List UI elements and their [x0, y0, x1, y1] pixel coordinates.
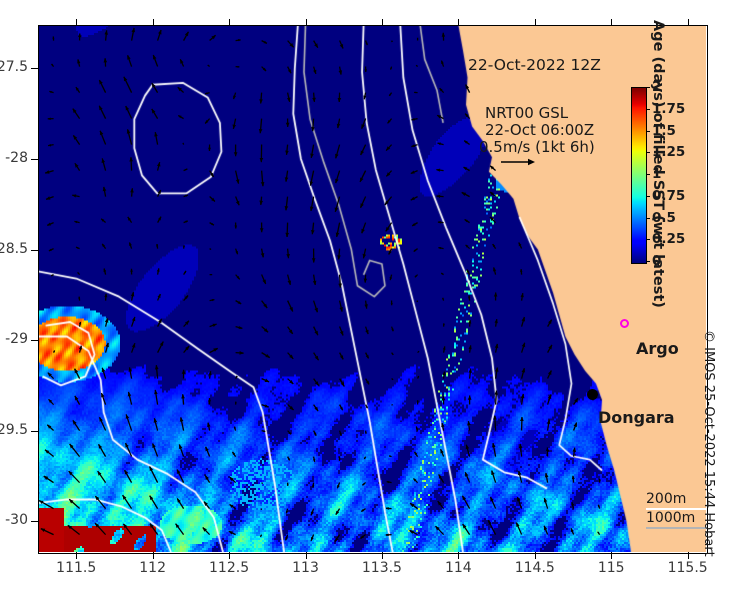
- y-tick-mark: [31, 250, 38, 251]
- scalebar-label-200: 200m: [646, 491, 706, 507]
- y-tick-mark: [31, 159, 38, 160]
- x-tick-label: 113.5: [362, 560, 402, 576]
- dongara-marker-icon: [587, 389, 598, 400]
- y-tick-label: -28.5: [0, 241, 28, 257]
- x-tick-mark: [229, 552, 230, 559]
- x-tick-mark-top: [458, 19, 459, 26]
- y-tick-mark: [31, 431, 38, 432]
- x-tick-mark-top: [76, 19, 77, 26]
- scalebar-rule-1000: [646, 527, 706, 529]
- y-tick-label: -29: [5, 331, 28, 347]
- x-tick-label: 115: [598, 560, 625, 576]
- dongara-place-label: Dongara: [598, 408, 675, 427]
- x-tick-mark: [153, 552, 154, 559]
- y-tick-label: -30: [5, 512, 28, 528]
- vector-scale-label: 0.5m/s (1kt 6h): [479, 138, 595, 156]
- x-tick-mark: [458, 552, 459, 559]
- colorbar-title: Age (days) of filled SST (wrt latest): [650, 20, 666, 270]
- x-tick-mark-top: [382, 19, 383, 26]
- argo-legend-label: Argo: [636, 339, 679, 358]
- y-tick-mark: [31, 68, 38, 69]
- map-plot-area: 22-Oct-2022 12Z NRT00 GSL 22-Oct 06:00Z …: [38, 25, 706, 552]
- x-tick-mark: [688, 552, 689, 559]
- product-time: 22-Oct 06:00Z: [485, 121, 594, 139]
- vector-scale-arrow-icon: [501, 157, 535, 167]
- x-tick-mark-top: [153, 19, 154, 26]
- x-tick-label: 113: [292, 560, 319, 576]
- x-tick-mark-top: [688, 19, 689, 26]
- depth-scalebar: 200m 1000m: [646, 491, 706, 529]
- colorbar-gradient: [631, 87, 647, 264]
- current-vector-layer: [38, 25, 706, 552]
- date-stamp: 22-Oct-2022 12Z: [468, 56, 601, 74]
- x-tick-mark-top: [611, 19, 612, 26]
- x-tick-mark: [611, 552, 612, 559]
- scalebar-label-1000: 1000m: [646, 510, 706, 526]
- credit-text: © IMOS 25-Oct-2022 15:44 Hobart: [701, 330, 716, 580]
- x-tick-label: 111.5: [56, 560, 96, 576]
- x-tick-mark: [535, 552, 536, 559]
- x-tick-label: 112: [139, 560, 166, 576]
- argo-marker-icon: [620, 319, 629, 328]
- y-tick-label: -28: [5, 150, 28, 166]
- y-tick-label: -29.5: [0, 422, 28, 438]
- x-tick-label: 114.5: [515, 560, 555, 576]
- x-tick-mark: [306, 552, 307, 559]
- y-tick-label: -27.5: [0, 59, 28, 75]
- y-tick-mark: [31, 340, 38, 341]
- x-tick-label: 112.5: [209, 560, 249, 576]
- x-tick-mark-top: [306, 19, 307, 26]
- x-tick-mark: [76, 552, 77, 559]
- x-tick-mark: [382, 552, 383, 559]
- product-name: NRT00 GSL: [485, 104, 568, 122]
- x-tick-label: 114: [445, 560, 472, 576]
- x-tick-mark-top: [535, 19, 536, 26]
- figure-root: 22-Oct-2022 12Z NRT00 GSL 22-Oct 06:00Z …: [0, 0, 740, 592]
- x-tick-mark-top: [229, 19, 230, 26]
- y-tick-mark: [31, 521, 38, 522]
